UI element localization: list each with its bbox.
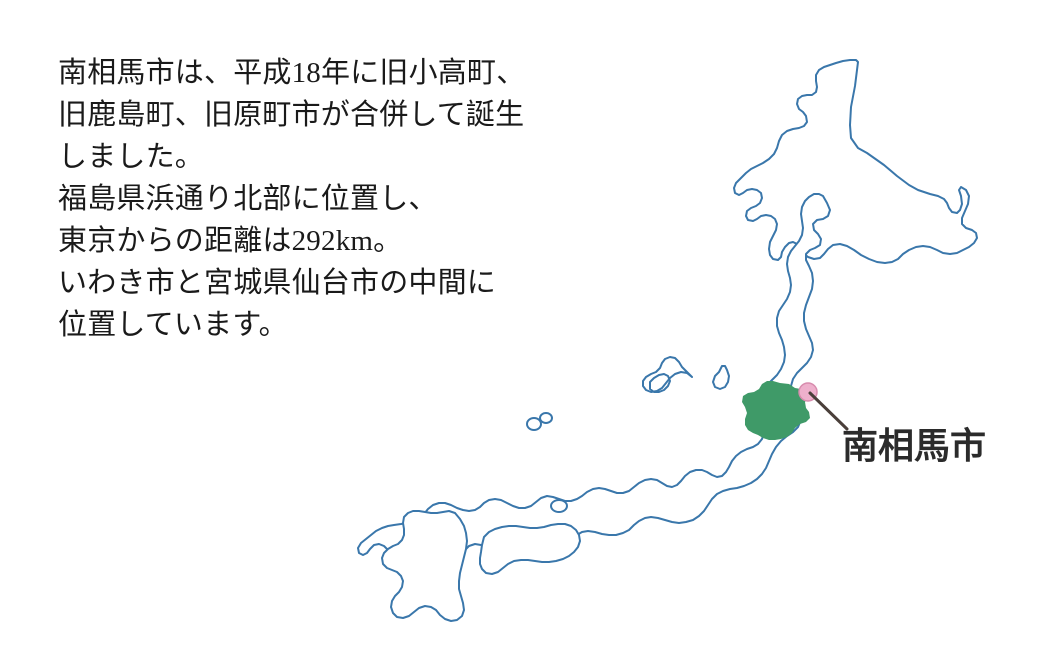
description-line-2: 旧鹿島町、旧原町市が合併して誕生	[58, 94, 618, 136]
description-line-7: 位置しています。	[58, 304, 618, 346]
description-line-6: いわき市と宮城県仙台市の中間に	[58, 262, 618, 304]
description-text-block: 南相馬市は、平成18年に旧小高町、 旧鹿島町、旧原町市が合併して誕生 しました。…	[58, 52, 618, 346]
description-line-5: 東京からの距離は292km。	[58, 220, 618, 262]
description-line-3: しました。	[58, 136, 618, 178]
callout-leader-line	[810, 393, 847, 429]
minamisoma-callout-label: 南相馬市	[842, 429, 986, 465]
description-line-1: 南相馬市は、平成18年に旧小高町、	[58, 52, 618, 94]
oki-island-b	[540, 413, 552, 423]
sado-island	[713, 366, 729, 389]
map-figure-page: 南相馬市 南相馬市は、平成18年に旧小高町、 旧鹿島町、旧原町市が合併して誕生 …	[0, 0, 1040, 646]
small-island-awaji	[551, 500, 567, 512]
shikoku-outline	[480, 524, 580, 574]
oki-island-a	[527, 418, 541, 430]
hokkaido-outline	[734, 60, 977, 263]
description-line-4: 福島県浜通り北部に位置し、	[58, 178, 618, 220]
